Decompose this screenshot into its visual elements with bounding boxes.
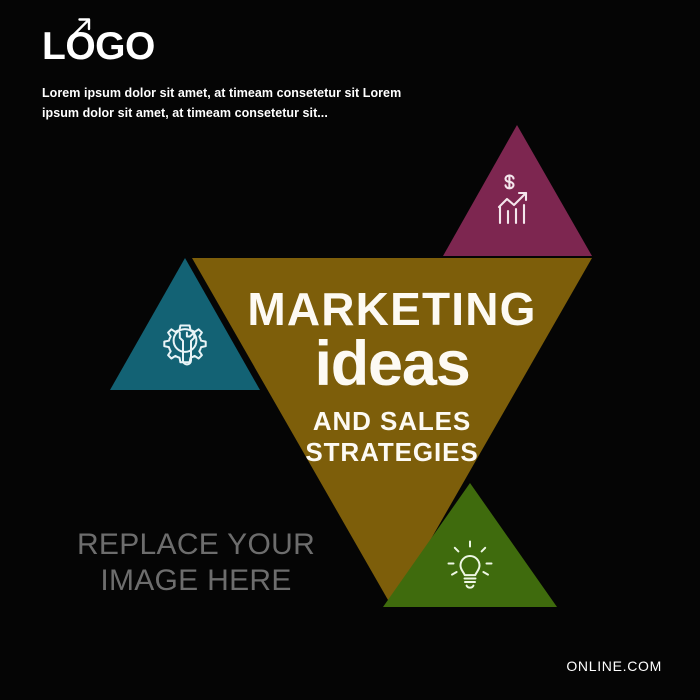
image-placeholder-text: REPLACE YOUR IMAGE HERE xyxy=(55,527,337,599)
logo-block: LOGO Lorem ipsum dolor sit amet, at time… xyxy=(42,26,462,124)
tagline-text: Lorem ipsum dolor sit amet, at timeam co… xyxy=(42,83,437,124)
placeholder-line-2: IMAGE HERE xyxy=(55,563,337,599)
placeholder-line-1: REPLACE YOUR xyxy=(55,527,337,563)
logo-text: LOGO xyxy=(42,27,155,66)
arrow-up-right-icon xyxy=(69,15,95,41)
logo[interactable]: LOGO xyxy=(42,26,462,66)
triangle-growth[interactable] xyxy=(443,125,592,256)
triangle-growth-shape xyxy=(443,125,592,256)
footer-website-url[interactable]: ONLINE.COM xyxy=(566,658,662,674)
poster-canvas: LOGO Lorem ipsum dolor sit amet, at time… xyxy=(0,0,700,700)
